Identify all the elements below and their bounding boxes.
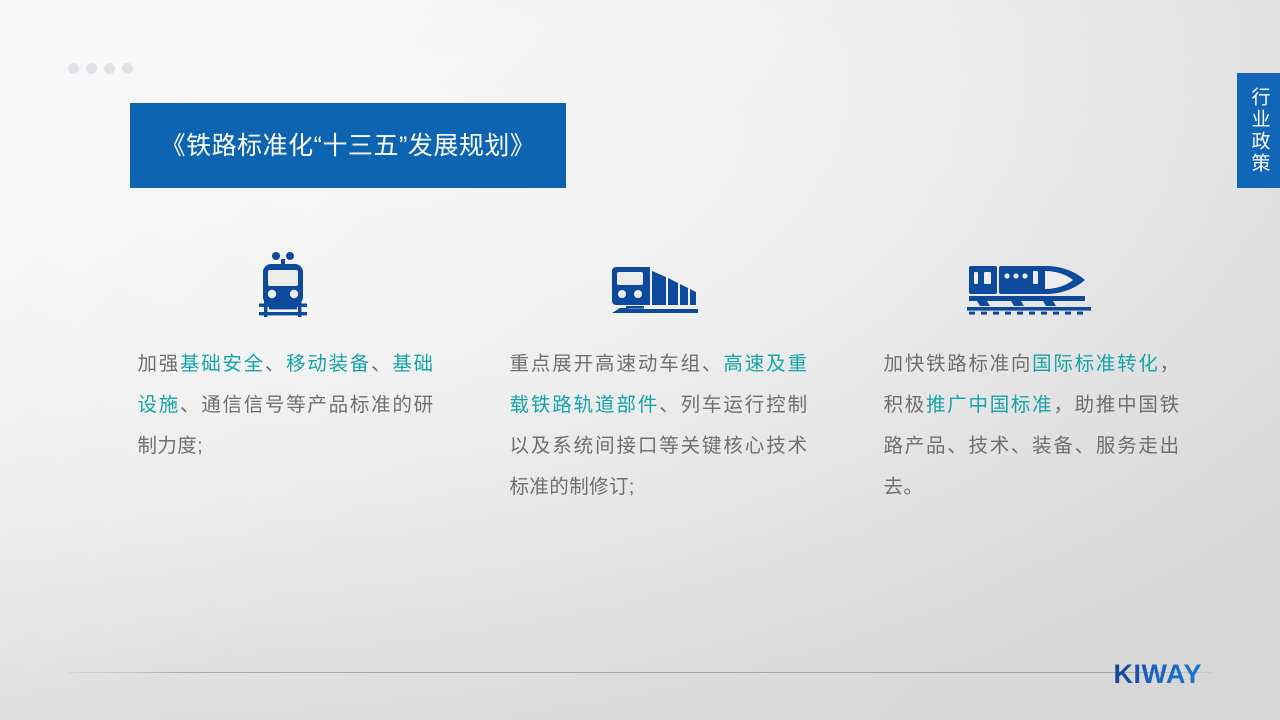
body-text: 重点展开高速动车组、 (510, 353, 724, 375)
column-body-text: 加快铁路标准向国际标准转化，积极推广中国标准，助推中国铁路产品、技术、装备、服务… (884, 344, 1180, 508)
dot-icon (68, 63, 79, 74)
brand-logo-text: KIWAY (1113, 659, 1202, 690)
body-text: 、 (371, 353, 392, 375)
section-tab-label: 行业政策 (1246, 87, 1272, 175)
content-columns: 加强基础安全、移动装备、基础设施、通信信号等产品标准的研制力度; (0, 248, 1280, 508)
highlighted-text: 移动装备 (286, 353, 371, 375)
brand-logo: KIWAY (1113, 659, 1202, 690)
highlighted-text: 推广中国标准 (926, 394, 1053, 416)
train-perspective-icon (608, 248, 704, 326)
dot-icon (122, 63, 133, 74)
highlighted-text: 国际标准转化 (1032, 353, 1159, 375)
body-text: 、 (265, 353, 286, 375)
slide-canvas: 《铁路标准化“十三五”发展规划》 行业政策 (0, 0, 1280, 720)
column-body-text: 加强基础安全、移动装备、基础设施、通信信号等产品标准的研制力度; (138, 344, 434, 467)
train-front-icon (251, 248, 315, 326)
page-title: 《铁路标准化“十三五”发展规划》 (147, 128, 550, 164)
content-column: 加强基础安全、移动装备、基础设施、通信信号等产品标准的研制力度; (96, 248, 469, 508)
high-speed-train-icon (967, 248, 1091, 326)
body-text: 加强 (138, 353, 180, 375)
decorative-dots (68, 63, 133, 74)
content-column: 加快铁路标准向国际标准转化，积极推广中国标准，助推中国铁路产品、技术、装备、服务… (842, 248, 1215, 508)
column-body-text: 重点展开高速动车组、高速及重载铁路轨道部件、列车运行控制以及系统间接口等关键核心… (510, 344, 808, 508)
body-text: 、通信信号等产品标准的研制力度; (138, 394, 434, 457)
title-banner: 《铁路标准化“十三五”发展规划》 (130, 103, 566, 188)
highlighted-text: 基础安全 (180, 353, 265, 375)
section-tab-industry-policy[interactable]: 行业政策 (1237, 73, 1280, 188)
dot-icon (104, 63, 115, 74)
body-text: 加快铁路标准向 (884, 353, 1033, 375)
footer-divider (68, 672, 1212, 673)
dot-icon (86, 63, 97, 74)
content-column: 重点展开高速动车组、高速及重载铁路轨道部件、列车运行控制以及系统间接口等关键核心… (469, 248, 842, 508)
